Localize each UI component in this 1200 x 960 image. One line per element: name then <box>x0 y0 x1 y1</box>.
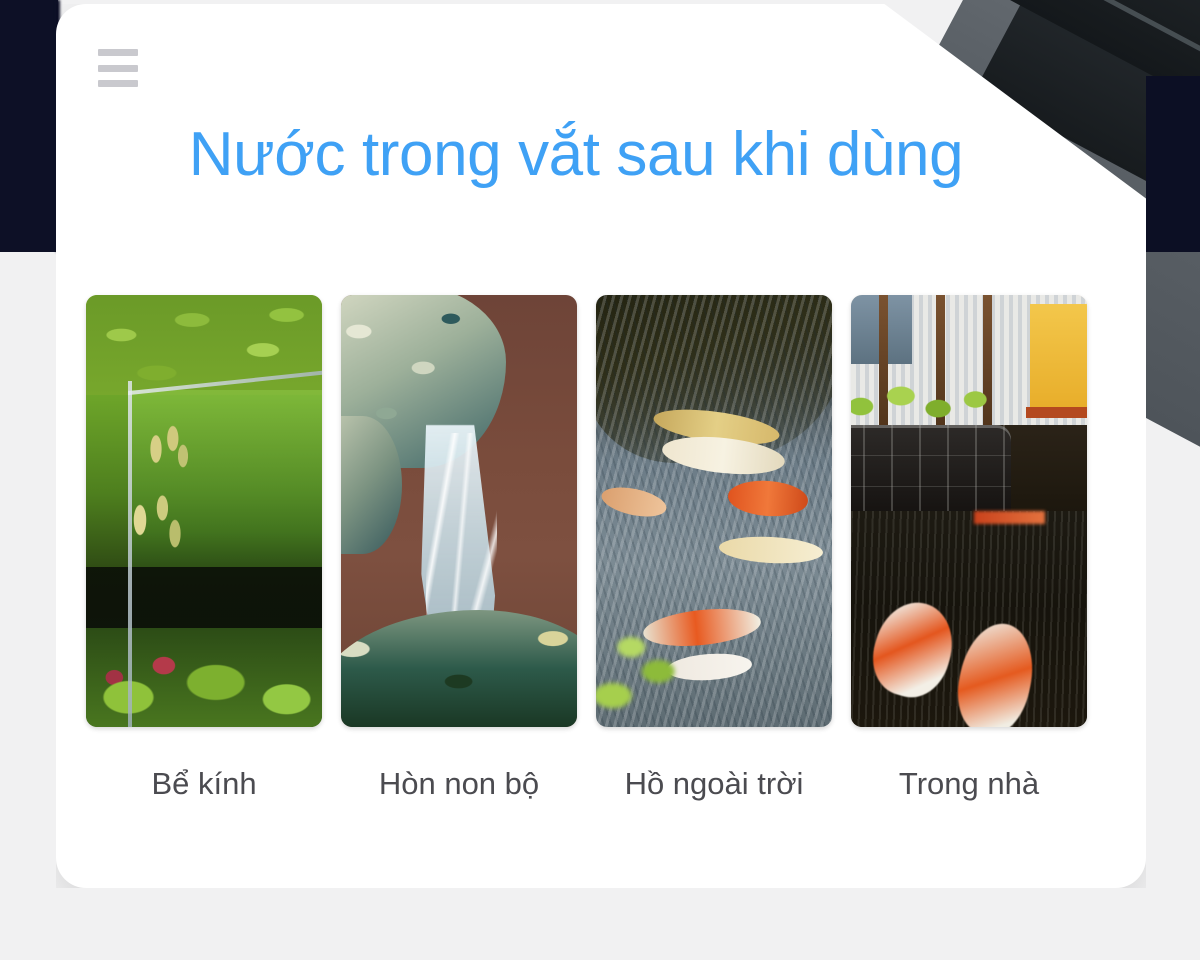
gallery-label-indoor-pond: Trong nhà <box>851 756 1087 812</box>
gallery-thumbnail-indoor-pond[interactable] <box>851 295 1087 727</box>
gallery-thumbnail-outdoor-pond[interactable] <box>596 295 832 727</box>
gallery-label-rock-waterfall: Hòn non bộ <box>341 756 577 812</box>
gallery-thumbnail-glass-aquarium[interactable] <box>86 295 322 727</box>
app-card: Nước trong vắt sau khi dùng <box>56 4 1146 888</box>
gallery-label-outdoor-pond: Hồ ngoài trời <box>596 756 832 812</box>
page-title: Nước trong vắt sau khi dùng <box>56 122 1096 187</box>
gallery-label-row: Bể kính Hòn non bộ Hồ ngoài trời Trong n… <box>86 756 1122 812</box>
rock-waterfall-photo <box>341 295 577 727</box>
hamburger-bar-1 <box>98 49 138 56</box>
glass-aquarium-photo <box>86 295 322 727</box>
hamburger-menu-icon[interactable] <box>98 45 142 91</box>
backdrop-navy-left-block <box>0 0 58 252</box>
backdrop-navy-right-block <box>1146 76 1200 252</box>
outdoor-koi-pond-photo <box>596 295 832 727</box>
gallery-thumbnail-rock-waterfall[interactable] <box>341 295 577 727</box>
hamburger-bar-2 <box>98 65 138 72</box>
hamburger-bar-3 <box>98 80 138 87</box>
indoor-koi-pond-photo <box>851 295 1087 727</box>
gallery-thumbnail-strip <box>86 295 1122 731</box>
gallery-label-glass-aquarium: Bể kính <box>86 756 322 812</box>
